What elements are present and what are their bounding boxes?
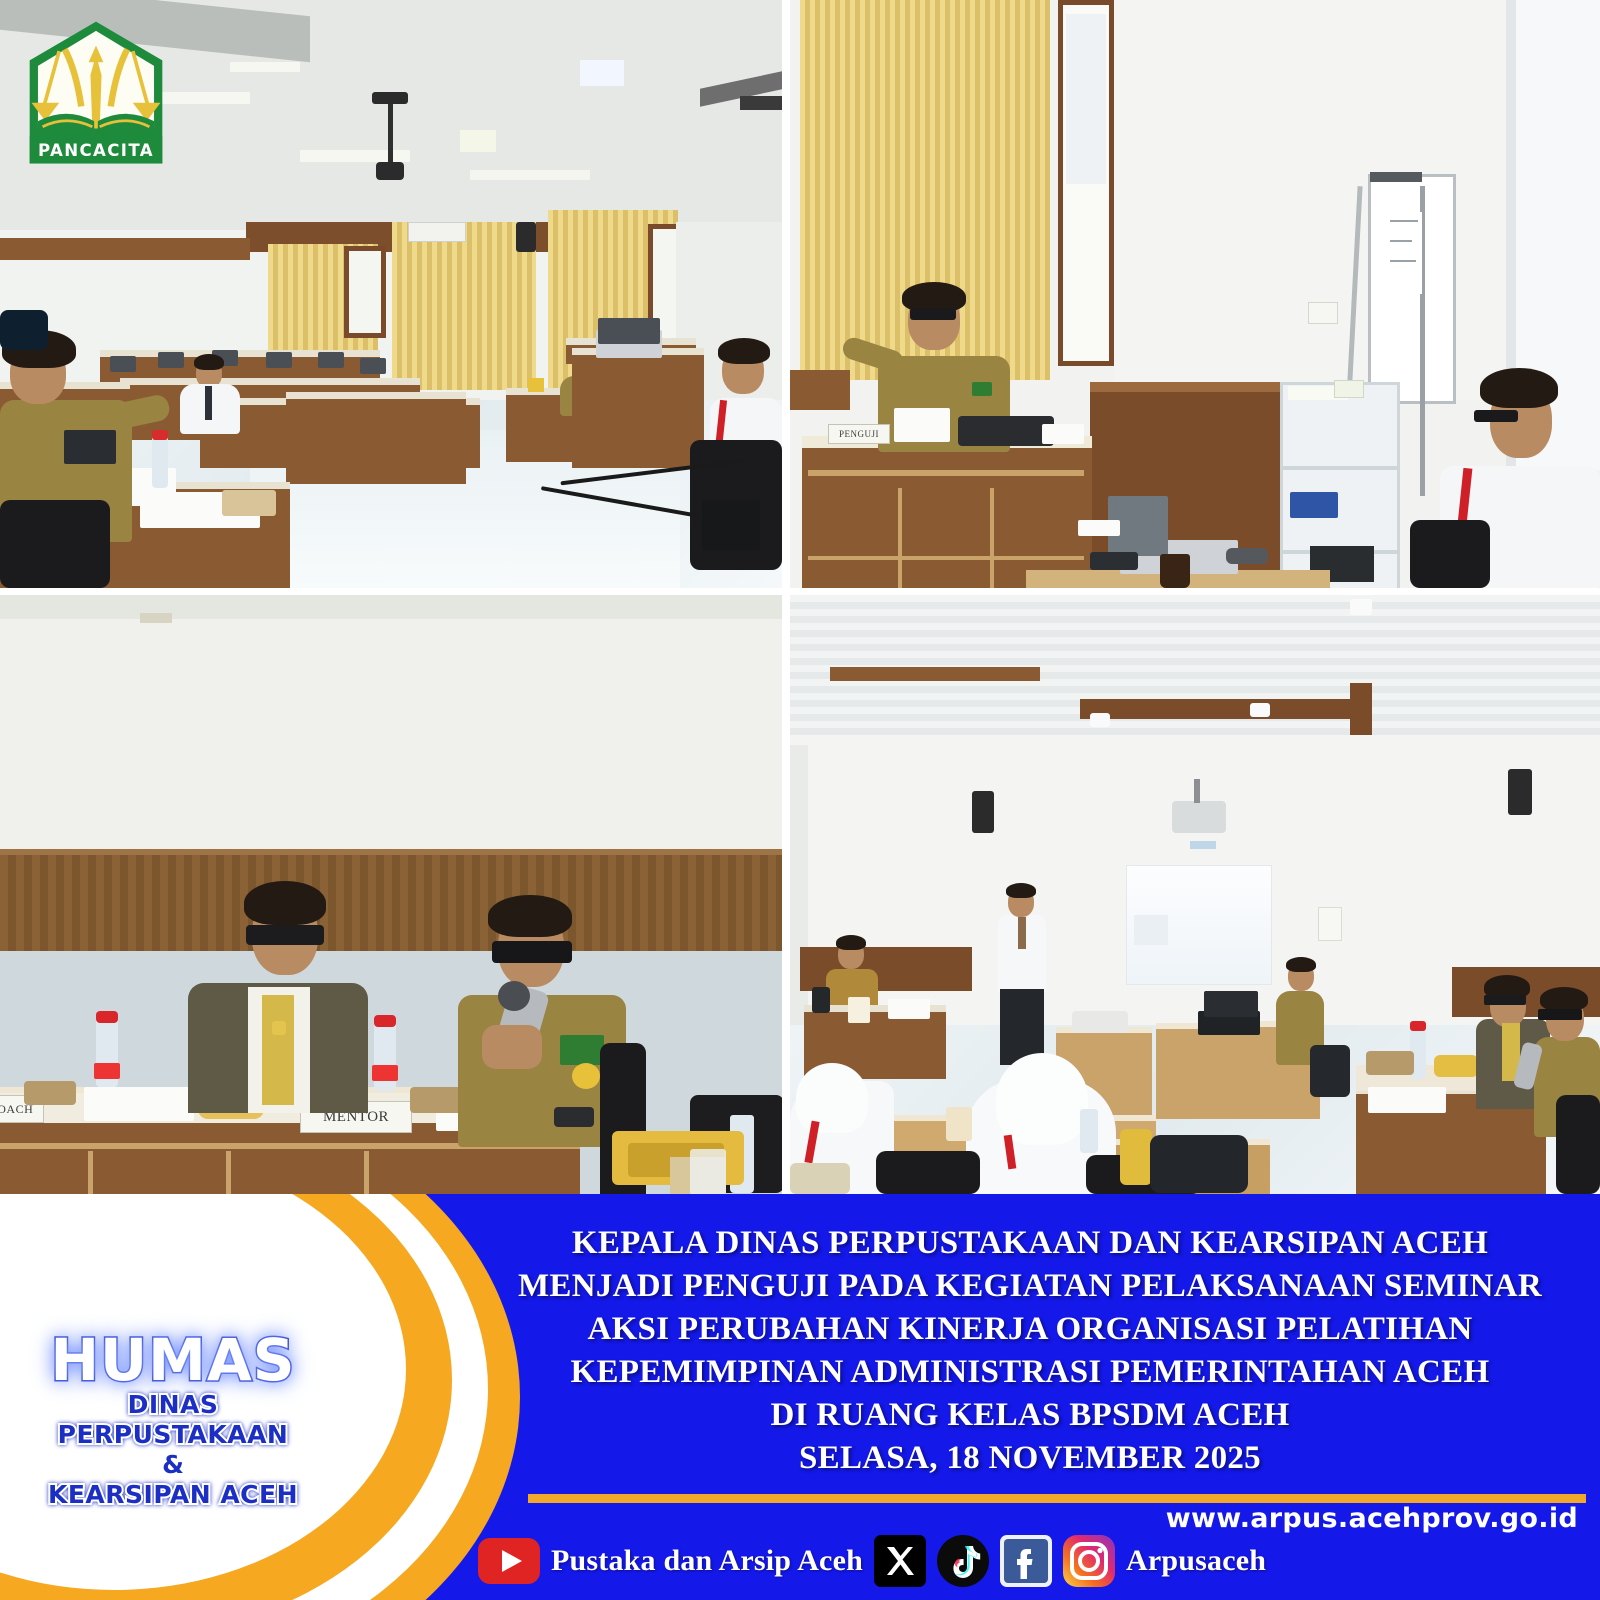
youtube-label: Pustaka dan Arsip Aceh bbox=[551, 1544, 863, 1578]
event-caption: KEPALA DINAS PERPUSTAKAAN DAN KEARSIPAN … bbox=[470, 1222, 1590, 1480]
gold-divider bbox=[528, 1494, 1586, 1503]
collage-gap-vertical bbox=[782, 0, 790, 1194]
photo-top-right[interactable]: PENGUJI bbox=[790, 0, 1600, 588]
social-bar: Pustaka dan Arsip Aceh bbox=[478, 1529, 1266, 1593]
caption-line-5: DI RUANG KELAS BPSDM ACEH bbox=[470, 1394, 1590, 1437]
photo-bottom-left[interactable]: COACH MENTOR bbox=[0, 595, 782, 1194]
facebook-icon[interactable] bbox=[1000, 1535, 1052, 1587]
social-handle-label: Arpusaceh bbox=[1126, 1544, 1266, 1578]
caption-line-4: KEPEMIMPINAN ADMINISTRASI PEMERINTAHAN A… bbox=[470, 1351, 1590, 1394]
photo-bottom-right[interactable] bbox=[790, 595, 1600, 1194]
caption-date: SELASA, 18 NOVEMBER 2025 bbox=[470, 1437, 1590, 1480]
instagram-icon[interactable] bbox=[1063, 1535, 1115, 1587]
photo-top-left[interactable]: PANCACITA bbox=[0, 0, 782, 588]
caption-line-2: MENJADI PENGUJI PADA KEGIATAN PELAKSANAA… bbox=[470, 1265, 1590, 1308]
pancacita-logo-label: PANCACITA bbox=[38, 141, 154, 160]
humas-logo-block: HUMAS DINAS PERPUSTAKAAN & KEARSIPAN ACE… bbox=[8, 1330, 338, 1510]
humas-title: HUMAS bbox=[8, 1330, 338, 1390]
penguji-nameplate: PENGUJI bbox=[828, 424, 890, 444]
photo-collage: PANCACITA bbox=[0, 0, 1600, 1194]
humas-subtitle-line2: KEARSIPAN ACEH bbox=[8, 1480, 338, 1510]
humas-ampersand: & bbox=[8, 1450, 338, 1480]
x-twitter-icon[interactable] bbox=[874, 1535, 926, 1587]
caption-line-1: KEPALA DINAS PERPUSTAKAAN DAN KEARSIPAN … bbox=[470, 1222, 1590, 1265]
collage-gap-horizontal bbox=[0, 588, 1600, 595]
humas-subtitle-line1: DINAS PERPUSTAKAAN bbox=[8, 1390, 338, 1450]
poster-root: PANCACITA bbox=[0, 0, 1600, 1600]
youtube-icon[interactable] bbox=[478, 1538, 540, 1584]
tiktok-icon[interactable] bbox=[937, 1535, 989, 1587]
caption-line-3: AKSI PERUBAHAN KINERJA ORGANISASI PELATI… bbox=[470, 1308, 1590, 1351]
pancacita-logo-icon: PANCACITA bbox=[22, 18, 170, 170]
